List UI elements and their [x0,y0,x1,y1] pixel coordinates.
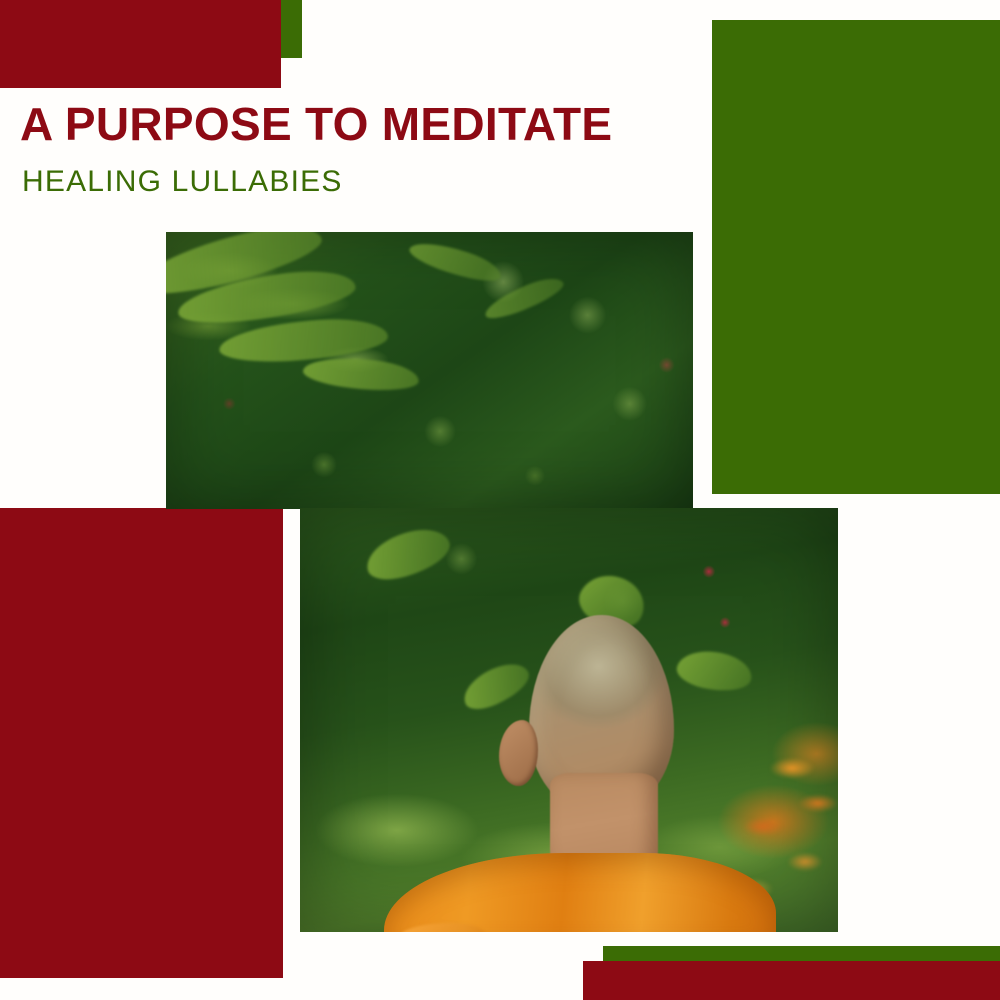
bottom-red-block [583,961,1000,1000]
monk-figure [451,601,752,932]
monk-photo [300,508,838,932]
robe-fold [400,923,486,932]
top-left-red-block [0,0,281,88]
leaf-shape [218,315,389,365]
monk-ear [499,720,538,786]
album-title: A PURPOSE TO MEDITATE [20,100,680,148]
leaf-shape [407,235,505,288]
monk-orange-robe [384,853,776,932]
right-green-block [712,20,1000,494]
foliage-photo [166,232,693,509]
album-cover: A PURPOSE TO MEDITATE HEALING LULLABIES [0,0,1000,1000]
left-red-block [0,508,283,978]
leaf-shape [360,522,454,586]
title-group: A PURPOSE TO MEDITATE HEALING LULLABIES [20,100,680,198]
album-subtitle: HEALING LULLABIES [22,166,680,198]
bottom-green-bar [603,946,1000,962]
leaf-shape [302,353,420,395]
top-green-strip [281,0,302,58]
